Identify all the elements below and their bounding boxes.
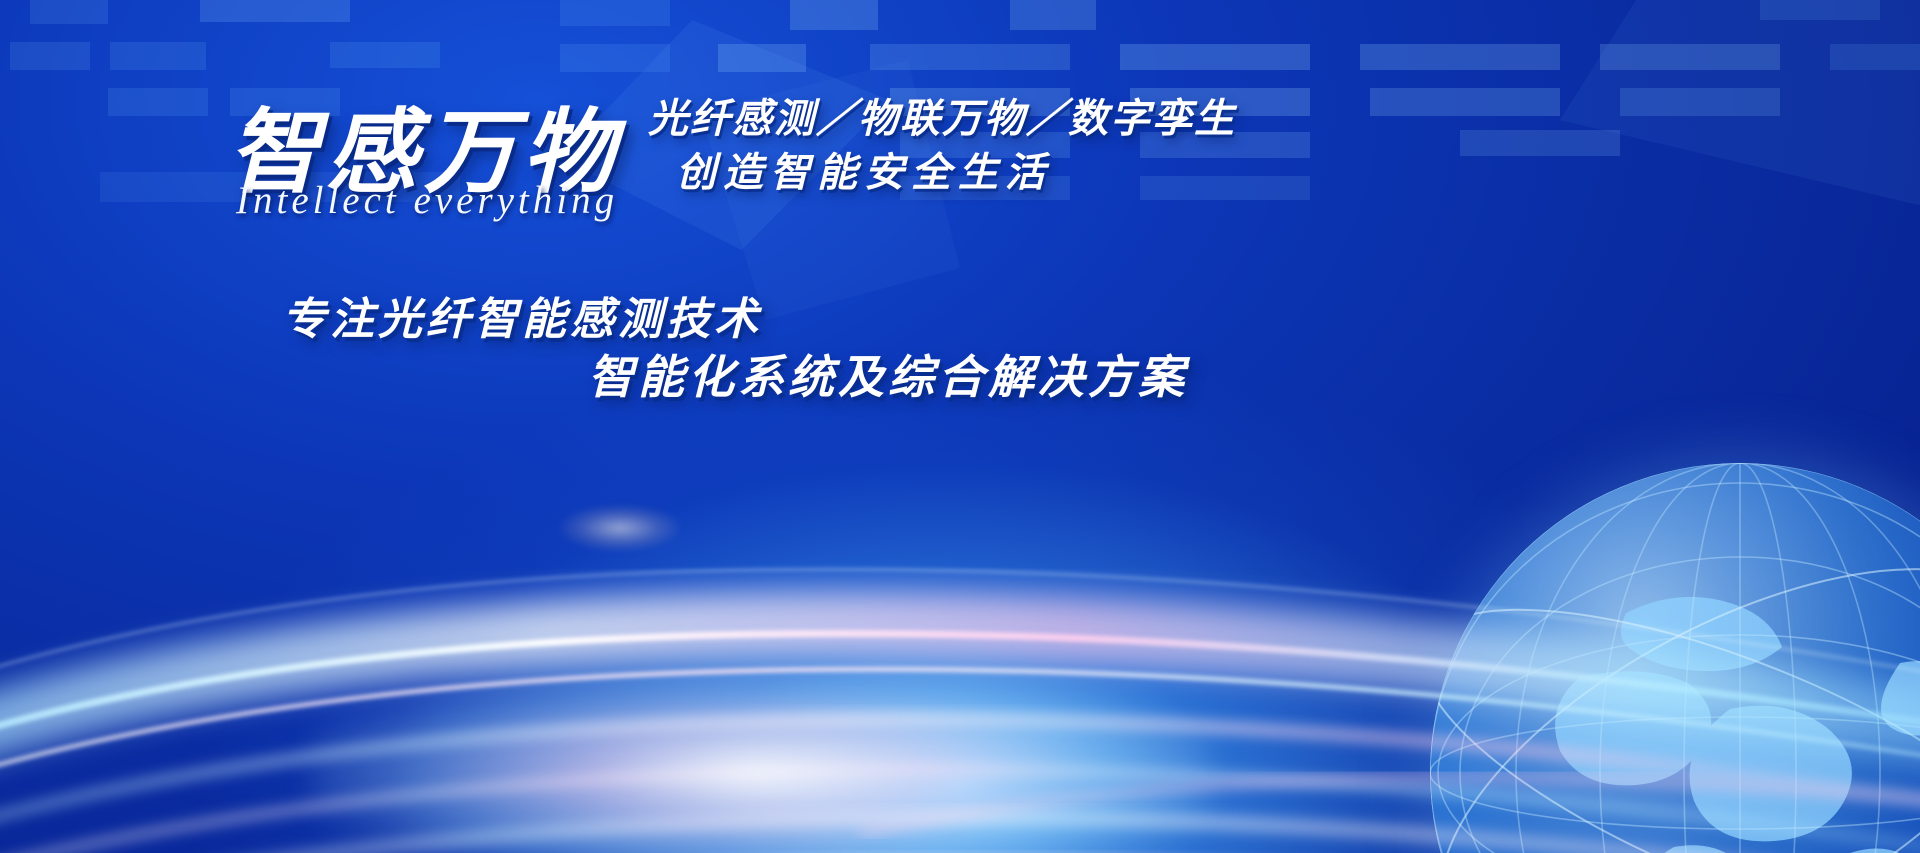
tagline-secondary: 创造智能安全生活 bbox=[676, 140, 1052, 198]
lens-flare-icon bbox=[560, 505, 680, 551]
subline-focus: 专注光纤智能感测技术 bbox=[282, 283, 762, 347]
globe-icon bbox=[1430, 463, 1920, 853]
subline-solution: 智能化系统及综合解决方案 bbox=[588, 341, 1188, 407]
page-subtitle-english: Intellect everything bbox=[236, 178, 618, 223]
hero-banner: 智感万物 Intellect everything 光纤感测／物联万物／数字孪生… bbox=[0, 0, 1920, 853]
tagline-primary: 光纤感测／物联万物／数字孪生 bbox=[648, 86, 1236, 144]
